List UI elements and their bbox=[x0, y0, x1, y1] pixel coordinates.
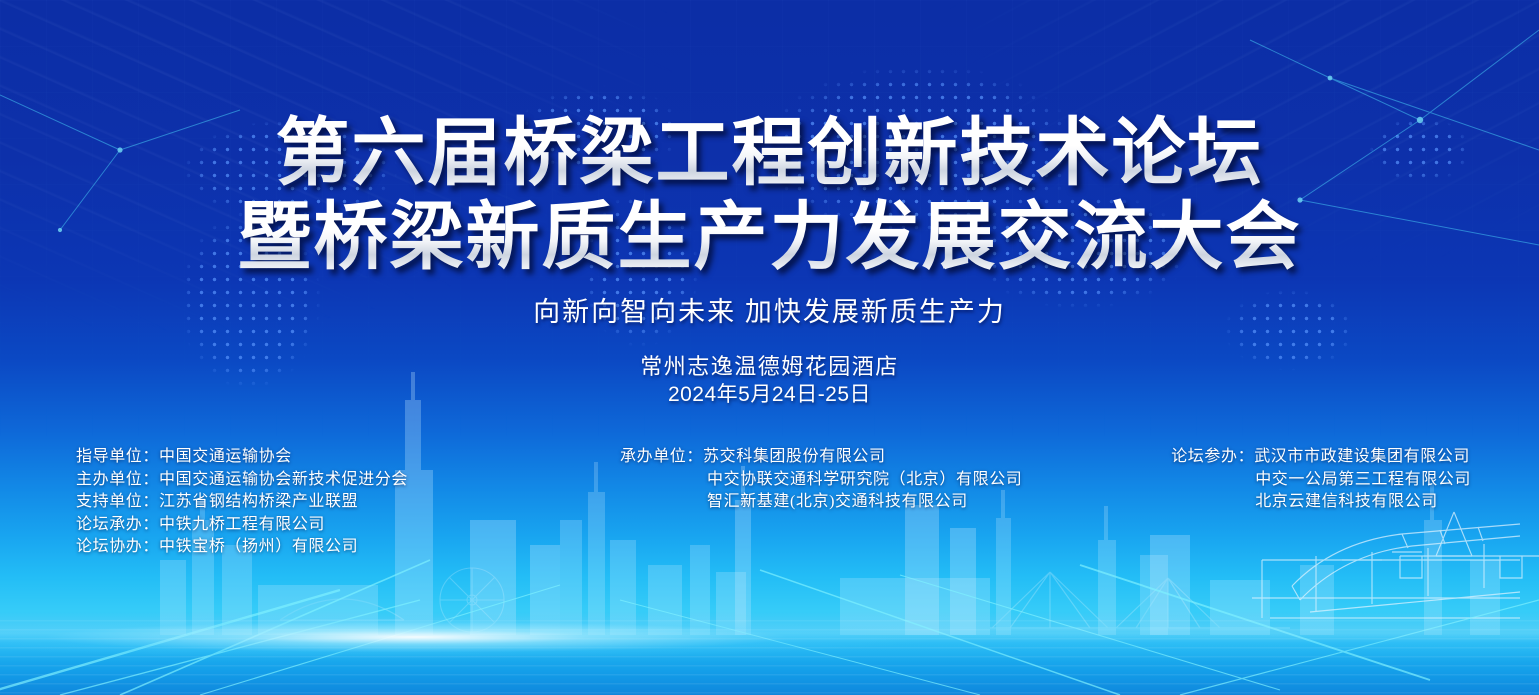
credit-row: 论坛承办：中铁九桥工程有限公司 bbox=[76, 514, 408, 537]
credit-label: 支持单位： bbox=[76, 493, 159, 510]
credit-row: 承办单位：苏交科集团股份有限公司 bbox=[620, 446, 1022, 469]
credits-column-center: 承办单位：苏交科集团股份有限公司 中交协联交通科学研究院（北京）有限公司 智汇新… bbox=[620, 446, 1022, 514]
credit-value: 武汉市市政建设集团有限公司 bbox=[1254, 448, 1470, 465]
conference-banner: 第六届桥梁工程创新技术论坛 暨桥梁新质生产力发展交流大会 向新向智向未来 加快发… bbox=[0, 0, 1539, 695]
credits-section: 指导单位：中国交通运输协会 主办单位：中国交通运输协会新技术促进分会 支持单位：… bbox=[0, 446, 1539, 566]
credit-label: 论坛协办： bbox=[76, 538, 159, 555]
credit-row: 智汇新基建(北京)交通科技有限公司 bbox=[620, 491, 1022, 514]
credit-label: 主办单位： bbox=[76, 471, 159, 488]
credits-column-right: 论坛参办：武汉市市政建设集团有限公司 中交一公局第三工程有限公司 北京云建信科技… bbox=[1171, 446, 1471, 514]
credit-row: 论坛参办：武汉市市政建设集团有限公司 bbox=[1171, 446, 1471, 469]
credit-label: 承办单位： bbox=[620, 448, 703, 465]
credit-label: 论坛参办： bbox=[1171, 448, 1254, 465]
subtitle: 向新向智向未来 加快发展新质生产力 bbox=[0, 295, 1539, 329]
page-title-line-1: 第六届桥梁工程创新技术论坛 bbox=[0, 112, 1539, 196]
event-date: 2024年5月24日-25日 bbox=[0, 381, 1539, 409]
credit-value: 中交协联交通科学研究院（北京）有限公司 bbox=[707, 471, 1022, 488]
credit-value: 北京云建信科技有限公司 bbox=[1255, 493, 1438, 510]
venue-name: 常州志逸温德姆花园酒店 bbox=[0, 352, 1539, 381]
credit-label: 指导单位： bbox=[76, 448, 159, 465]
credit-value: 中交一公局第三工程有限公司 bbox=[1255, 471, 1471, 488]
credit-value: 中铁九桥工程有限公司 bbox=[159, 516, 325, 533]
credit-value: 苏交科集团股份有限公司 bbox=[703, 448, 886, 465]
title-block: 第六届桥梁工程创新技术论坛 暨桥梁新质生产力发展交流大会 bbox=[0, 112, 1539, 280]
credit-label: 论坛承办： bbox=[76, 516, 159, 533]
credit-value: 中国交通运输协会 bbox=[159, 448, 292, 465]
credit-value: 智汇新基建(北京)交通科技有限公司 bbox=[707, 493, 968, 510]
credit-row: 中交一公局第三工程有限公司 bbox=[1171, 469, 1471, 492]
credit-row: 北京云建信科技有限公司 bbox=[1171, 491, 1471, 514]
credit-row: 中交协联交通科学研究院（北京）有限公司 bbox=[620, 469, 1022, 492]
credit-value: 中国交通运输协会新技术促进分会 bbox=[159, 471, 408, 488]
credit-row: 论坛协办：中铁宝桥（扬州）有限公司 bbox=[76, 536, 408, 559]
page-title-line-2: 暨桥梁新质生产力发展交流大会 bbox=[0, 196, 1539, 280]
credit-row: 主办单位：中国交通运输协会新技术促进分会 bbox=[76, 469, 408, 492]
credits-column-left: 指导单位：中国交通运输协会 主办单位：中国交通运输协会新技术促进分会 支持单位：… bbox=[76, 446, 408, 559]
credit-row: 支持单位：江苏省钢结构桥梁产业联盟 bbox=[76, 491, 408, 514]
credit-value: 江苏省钢结构桥梁产业联盟 bbox=[159, 493, 358, 510]
venue-block: 常州志逸温德姆花园酒店 2024年5月24日-25日 bbox=[0, 352, 1539, 409]
credit-row: 指导单位：中国交通运输协会 bbox=[76, 446, 408, 469]
credit-value: 中铁宝桥（扬州）有限公司 bbox=[159, 538, 358, 555]
